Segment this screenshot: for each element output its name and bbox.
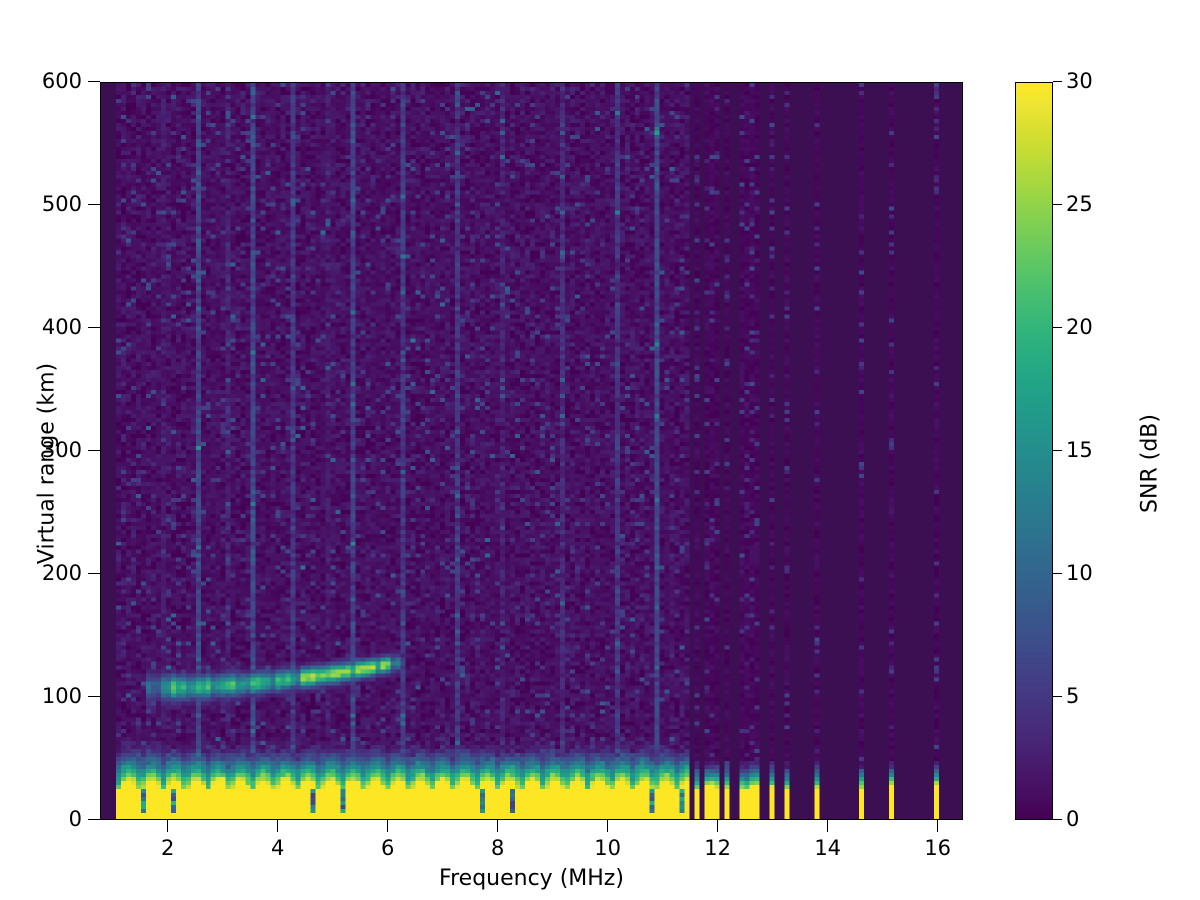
y-tick [88, 204, 100, 205]
x-tick-label: 2 [161, 838, 174, 859]
ionogram-heatmap [101, 83, 962, 819]
y-tick-label: 600 [42, 71, 82, 92]
y-tick [88, 573, 100, 574]
colorbar-gradient [1016, 83, 1052, 819]
y-tick [88, 696, 100, 697]
y-tick [88, 450, 100, 451]
colorbar-tick [1053, 204, 1062, 205]
x-axis-label: Frequency (MHz) [100, 866, 963, 891]
ionogram-figure: IRF Kiruna Ionosonde KI167 2025-12-21 17… [0, 0, 1200, 900]
y-tick [88, 81, 100, 82]
x-tick [937, 820, 938, 832]
x-tick-label: 12 [704, 838, 731, 859]
colorbar-tick [1053, 696, 1062, 697]
x-tick-label: 6 [381, 838, 394, 859]
x-tick-label: 10 [594, 838, 621, 859]
x-tick [387, 820, 388, 832]
y-tick-label: 500 [42, 194, 82, 215]
colorbar-tick [1053, 573, 1062, 574]
x-tick [167, 820, 168, 832]
y-tick-label: 0 [69, 809, 82, 830]
x-tick [827, 820, 828, 832]
y-tick [88, 819, 100, 820]
x-tick-label: 4 [271, 838, 284, 859]
ionogram-plot-area[interactable] [100, 82, 963, 820]
x-tick [607, 820, 608, 832]
colorbar-tick-label: 10 [1066, 563, 1093, 584]
x-tick [497, 820, 498, 832]
y-tick [88, 327, 100, 328]
colorbar-tick-label: 25 [1066, 194, 1093, 215]
x-tick-label: 14 [814, 838, 841, 859]
colorbar-tick [1053, 819, 1062, 820]
y-axis-label: Virtual range (km) [35, 324, 60, 604]
colorbar [1015, 82, 1053, 820]
colorbar-tick-label: 5 [1066, 686, 1079, 707]
colorbar-tick [1053, 81, 1062, 82]
x-tick-label: 16 [924, 838, 951, 859]
x-tick-label: 8 [491, 838, 504, 859]
colorbar-tick [1053, 327, 1062, 328]
colorbar-tick-label: 30 [1066, 71, 1093, 92]
colorbar-tick-label: 15 [1066, 440, 1093, 461]
colorbar-tick [1053, 450, 1062, 451]
x-tick [717, 820, 718, 832]
colorbar-tick-label: 0 [1066, 809, 1079, 830]
colorbar-label: SNR (dB) [1138, 324, 1163, 604]
colorbar-tick-label: 20 [1066, 317, 1093, 338]
x-tick [277, 820, 278, 832]
y-tick-label: 100 [42, 686, 82, 707]
